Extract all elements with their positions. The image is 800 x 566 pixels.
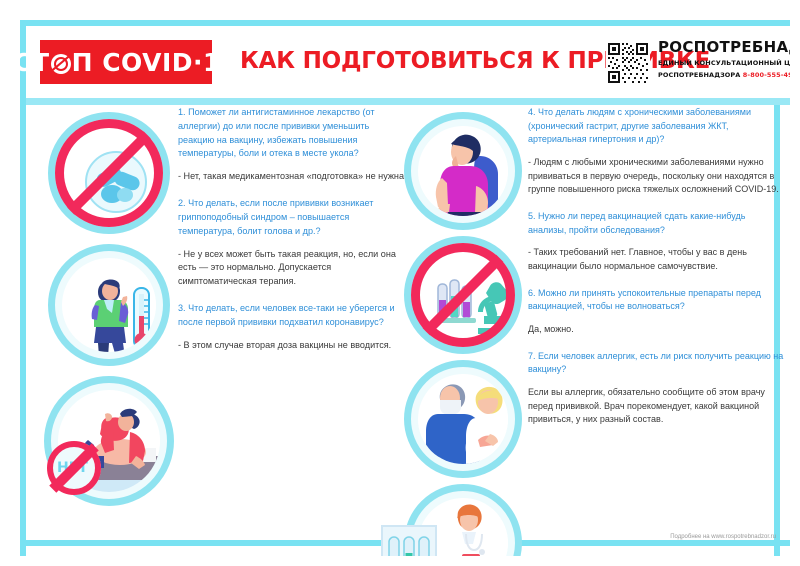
question-text: 5. Нужно ли перед вакцинацией сдать каки… — [528, 210, 786, 237]
test-tubes-panel — [381, 525, 437, 566]
stop-covid-badge: СТП COVID·19 — [40, 40, 212, 84]
couple-in-masks-art — [418, 374, 508, 464]
microscope-and-tubes-art — [418, 250, 508, 340]
svg-text:НЕТ: НЕТ — [57, 460, 88, 476]
virus-crossed-icon — [51, 54, 71, 74]
answer-text: - Не у всех может быть такая реакция, но… — [178, 248, 408, 289]
left-text-column: 1. Поможет ли антигистаминное лекарство … — [178, 106, 408, 365]
poster-content: НЕТ 1. Поможет ли антигистаминное лекарс… — [26, 106, 794, 554]
org-subtitle-text: РОСПОТРЕБНАДЗОРА — [658, 71, 740, 79]
answer-text: - В этом случае вторая доза вакцины не в… — [178, 339, 408, 353]
no-pills-illustration — [48, 112, 170, 234]
man-with-fever-thermometer-illustration — [48, 244, 170, 366]
man-holding-stomach-illustration — [404, 112, 522, 230]
answer-text: - Нет, такая медикаментозная «подготовка… — [178, 170, 408, 184]
doctor-with-test-tubes-illustration — [404, 484, 522, 566]
question-text: 6. Можно ли принять успокоительные препа… — [528, 287, 786, 314]
qa-item: 3. Что делать, если человек все-таки не … — [178, 302, 408, 352]
qa-item: 2. Что делать, если после прививки возни… — [178, 197, 408, 289]
footer-note: Подробнее на www.rospotrebnadzor.ru — [26, 534, 794, 540]
infographic-poster: СТП COVID·19 КАК ПОДГОТОВИТЬСЯ К ПРИВИВК… — [0, 0, 800, 566]
stop-badge-prefix: СТ — [13, 48, 49, 77]
org-subtitle-line1: ЕДИНЫЙ КОНСУЛЬТАЦИОННЫЙ ЦЕНТР — [658, 59, 800, 69]
crossed-no-text: НЕТ — [55, 455, 93, 479]
answer-text: - Таких требований нет. Главное, чтобы у… — [528, 246, 786, 273]
hotline-phone-number[interactable]: 8-800-555-49-43 — [743, 71, 800, 79]
org-subtitle-line2: РОСПОТРЕБНАДЗОРА 8-800-555-49-43 — [658, 71, 800, 81]
right-text-column: 4. Что делать людям с хроническими забол… — [528, 106, 786, 440]
qr-code-icon[interactable] — [606, 41, 650, 85]
no-entry-badge: НЕТ — [47, 441, 101, 495]
org-name: РОСПОТРЕБНАДЗОР — [658, 39, 800, 56]
header-divider-band — [26, 98, 794, 105]
left-illustration-column: НЕТ — [48, 106, 176, 506]
qa-item: 4. Что делать людям с хроническими забол… — [528, 106, 786, 197]
middle-illustration-column — [404, 106, 526, 566]
question-text: 4. Что делать людям с хроническими забол… — [528, 106, 786, 147]
question-text: 3. Что делать, если человек все-таки не … — [178, 302, 408, 330]
man-with-fever-thermometer-art — [62, 258, 156, 352]
question-text: 7. Если человек аллергик, есть ли риск п… — [528, 350, 786, 377]
man-holding-stomach-art — [418, 126, 508, 216]
qa-item: 7. Если человек аллергик, есть ли риск п… — [528, 350, 786, 427]
sick-man-on-sofa-no-entry-illustration: НЕТ — [44, 376, 174, 506]
stop-covid-badge-text: СТП COVID·19 — [13, 50, 239, 75]
stop-badge-suffix: П COVID·19 — [72, 48, 239, 77]
poster-header: СТП COVID·19 КАК ПОДГОТОВИТЬСЯ К ПРИВИВК… — [26, 26, 794, 98]
question-text: 1. Поможет ли антигистаминное лекарство … — [178, 106, 408, 161]
rospotrebnadzor-logo-block: РОСПОТРЕБНАДЗОР ЕДИНЫЙ КОНСУЛЬТАЦИОННЫЙ … — [658, 39, 800, 81]
qa-item: 5. Нужно ли перед вакцинацией сдать каки… — [528, 210, 786, 274]
qa-item: 6. Можно ли принять успокоительные препа… — [528, 287, 786, 337]
answer-text: - Людям с любыми хроническими заболевани… — [528, 156, 786, 197]
no-lab-tests-microscope-illustration — [404, 236, 522, 354]
no-pills-illustration-art — [62, 126, 156, 220]
question-text: 2. Что делать, если после прививки возни… — [178, 197, 408, 238]
couple-in-masks-illustration — [404, 360, 522, 478]
answer-text: Да, можно. — [528, 323, 786, 337]
qa-item: 1. Поможет ли антигистаминное лекарство … — [178, 106, 408, 184]
answer-text: Если вы аллергик, обязательно сообщите о… — [528, 386, 786, 427]
